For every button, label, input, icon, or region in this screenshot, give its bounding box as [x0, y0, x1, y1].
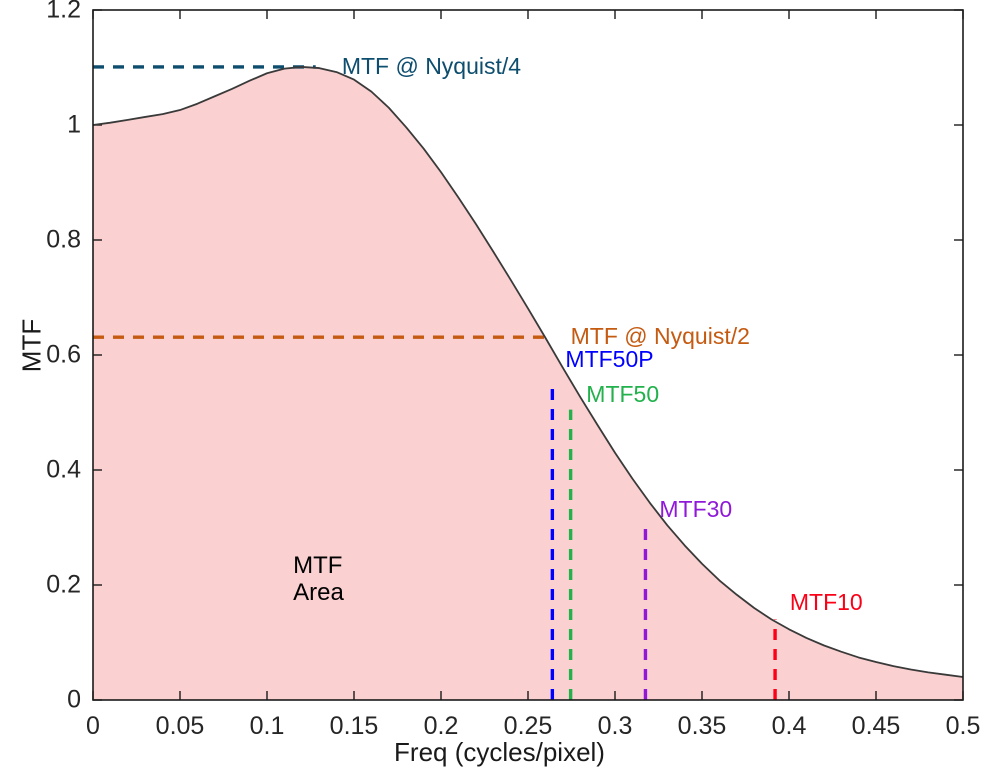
mtf-nyquist4-label: MTF @ Nyquist/4	[342, 53, 521, 80]
y-tick-label: 0.2	[0, 571, 81, 600]
x-axis-label: Freq (cycles/pixel)	[0, 737, 999, 768]
mtf50p-label: MTF50P	[565, 346, 653, 373]
y-tick-label: 0	[0, 686, 81, 715]
mtf10-label: MTF10	[790, 589, 863, 616]
y-tick-label: 1	[0, 111, 81, 140]
y-tick-label: 0.4	[0, 456, 81, 485]
y-axis-label: MTF	[17, 296, 48, 396]
mtf50-label: MTF50	[586, 381, 659, 408]
y-tick-label: 0.8	[0, 226, 81, 255]
mtf-chart-figure: 00.050.10.150.20.250.30.350.40.450.500.2…	[0, 0, 999, 774]
mtf-area-label-line1: MTF	[293, 552, 344, 580]
mtf-area-label: MTF Area	[293, 552, 344, 607]
y-tick-label: 1.2	[0, 0, 81, 25]
mtf30-label: MTF30	[659, 496, 732, 523]
mtf-area-label-line2: Area	[293, 579, 344, 607]
plot-canvas	[0, 0, 999, 774]
